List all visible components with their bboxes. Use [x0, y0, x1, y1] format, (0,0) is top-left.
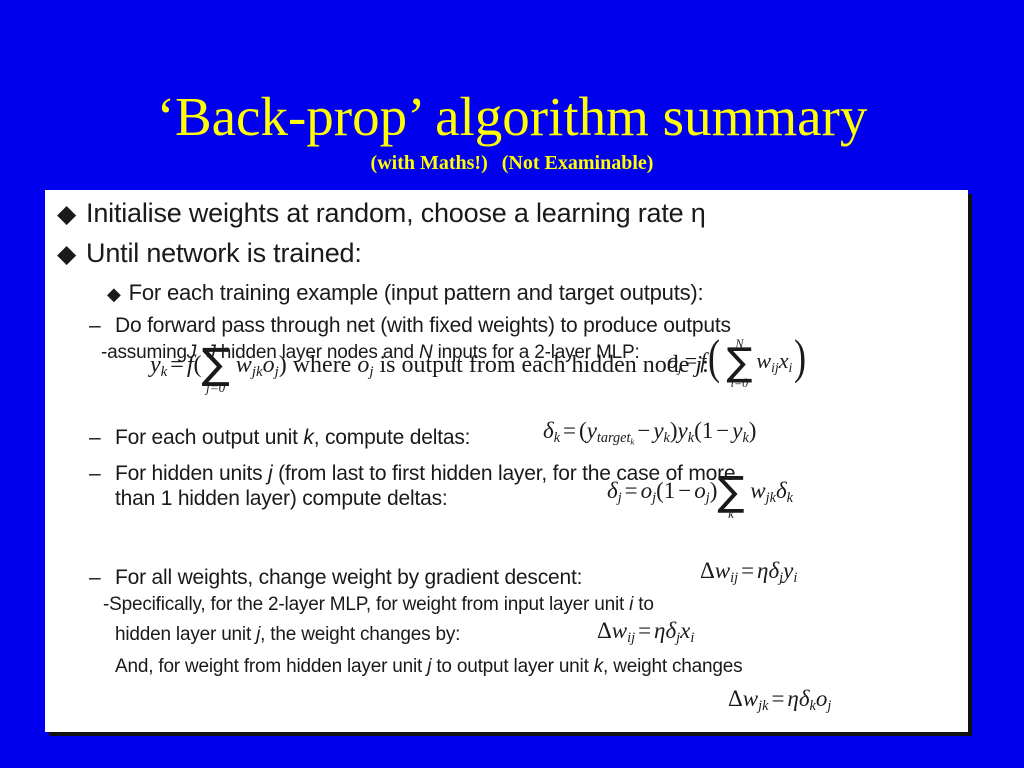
eq-dj-paren-open: ( [656, 478, 664, 503]
bullet-text-a: For hidden units [115, 462, 268, 485]
eq-dk-lhs: δk [543, 418, 560, 443]
eq-yk-oj: oj [357, 352, 373, 378]
page-title: ‘Back-prop’ algorithm summary [0, 88, 1024, 146]
equation-oj: oj=f(N∑i=0wijxi) [667, 348, 808, 376]
bullet-specifically-line2: hidden layer unit j, the weight changes … [115, 624, 460, 646]
bullet-for-each-training-example: ◆For each training example (input patter… [107, 280, 703, 307]
bullet-text-b: , the weight changes by: [260, 624, 460, 645]
equation-yk: yk=f(∑j=0 wjkoj) where oj is output from… [150, 352, 709, 381]
eq-yk-paren-open: ( [193, 352, 201, 378]
eq-dwij2-delta-symbol: Δ [597, 618, 612, 643]
bullet-text-b: to [633, 594, 654, 615]
eq-dwij2-rhs: ηδjxi [654, 618, 694, 643]
bullet-output-unit-deltas: –For each output unit k, compute deltas: [89, 426, 470, 450]
equation-dw-ij-y: Δwij=ηδjyi [700, 558, 797, 587]
eq-dwjk-delta-symbol: Δ [728, 686, 743, 711]
eq-dj-one: 1 [664, 478, 676, 503]
bullet-hidden-units-deltas-line2: than 1 hidden layer) compute deltas: [115, 487, 448, 511]
bullet-specifically-2layer: -Specifically, for the 2-layer MLP, for … [103, 594, 654, 616]
eq-dk-yk: yk [653, 418, 670, 443]
eq-dk-yk3: yk [732, 418, 749, 443]
eq-dwjk-rhs: ηδkoj [787, 686, 831, 711]
eq-dj-equals: = [622, 478, 641, 503]
title-block: ‘Back-prop’ algorithm summary (with Math… [0, 88, 1024, 175]
bullet-text-a: For each output unit [115, 426, 303, 449]
bullet-text: Do forward pass through net (with fixed … [115, 314, 731, 337]
eq-dj-paren-close: ) [710, 478, 718, 503]
equation-dw-jk: Δwjk=ηδkoj [728, 686, 831, 715]
eq-oj-fn: f [700, 348, 706, 373]
bullet-text: Initialise weights at random, choose a l… [86, 198, 706, 228]
eq-dwij2-equals: = [635, 618, 654, 643]
bullet-forward-pass: –Do forward pass through net (with fixed… [89, 314, 731, 338]
bullet-and-for-weight: And, for weight from hidden layer unit j… [115, 656, 742, 678]
eq-yk-lhs: yk [150, 352, 167, 378]
bullet-text: For all weights, change weight by gradie… [115, 566, 582, 589]
eq-dk-paren2-close: ) [749, 418, 757, 443]
eq-dwij2-w: wij [612, 618, 635, 643]
bullet-text: For each training example (input pattern… [129, 280, 704, 305]
bullet-initialise-weights: ◆Initialise weights at random, choose a … [57, 198, 706, 229]
bullet-text-a: hidden layer unit [115, 624, 256, 645]
dash-bullet-icon: – [89, 314, 115, 338]
eq-oj-sum-lower: i=0 [726, 376, 752, 391]
bullet-text-b: to output layer unit [431, 656, 593, 677]
eq-dk-paren2-open: ( [694, 418, 702, 443]
eq-dj-oj2: oj [694, 478, 709, 503]
eq-dk-ytarget: ytargetk [587, 418, 635, 443]
eq-oj-sum: N∑i=0 [726, 350, 752, 376]
dash-bullet-icon: – [89, 462, 115, 486]
eq-dk-paren-open: ( [579, 418, 587, 443]
bullet-text-c: , weight changes [603, 656, 742, 677]
eq-yk-paren-close: ) [279, 352, 287, 378]
eq-yk-equals: = [167, 352, 187, 378]
equation-delta-k: δk=(ytargetk−yk)yk(1−yk) [543, 418, 756, 447]
eq-dk-equals: = [560, 418, 579, 443]
dash-bullet-icon: – [89, 426, 115, 450]
diamond-bullet-icon: ◆ [107, 282, 121, 307]
equation-delta-j: δj=oj(1−oj)∑k wjkδk [607, 478, 793, 507]
bullet-text-a: -Specifically, for the 2-layer MLP, for … [103, 594, 629, 615]
bullet-text-a: And, for weight from hidden layer unit [115, 656, 427, 677]
eq-dwjk-equals: = [768, 686, 787, 711]
bullet-text: Until network is trained: [86, 238, 362, 268]
slide-subtitle: (with Maths!)(Not Examinable) [0, 151, 1024, 175]
eq-dj-lhs: δj [607, 478, 622, 503]
bullet-text-b: , compute deltas: [314, 426, 471, 449]
eq-oj-term: wijxi [756, 348, 792, 373]
content-panel: ◆Initialise weights at random, choose a … [45, 190, 968, 732]
eq-dwij1-w: wij [715, 558, 738, 583]
equation-dw-ij-x: Δwij=ηδjxi [597, 618, 694, 647]
var-k: k [303, 426, 313, 449]
eq-dwij1-equals: = [738, 558, 757, 583]
subtitle-left: (with Maths!) [371, 152, 488, 174]
eq-dwij1-rhs: ηδjyi [757, 558, 797, 583]
eq-yk-where: where [287, 352, 358, 378]
eq-dj-term: wjkδk [745, 478, 793, 503]
eq-dj-sum-lower: k [717, 507, 744, 522]
eq-oj-lhs: oj [667, 348, 682, 373]
bullet-all-weights-gradient-descent: –For all weights, change weight by gradi… [89, 566, 582, 590]
eq-yk-sum: ∑j=0 [201, 353, 229, 380]
eq-dj-oj: oj [641, 478, 656, 503]
eq-dk-minus: − [634, 418, 653, 443]
eq-yk-outputfrom: is output from each hidden node [373, 352, 695, 378]
eq-yk-term: wjkoj [230, 352, 279, 378]
eq-yk-sum-lower: j=0 [201, 380, 229, 396]
eq-dk-minus2: − [713, 418, 732, 443]
eq-oj-equals: = [682, 348, 700, 373]
var-k: k [594, 656, 603, 677]
eq-dwjk-w: wjk [743, 686, 769, 711]
diamond-bullet-icon: ◆ [57, 239, 76, 269]
slide-canvas: ‘Back-prop’ algorithm summary (with Math… [0, 0, 1024, 768]
bullet-text: than 1 hidden layer) compute deltas: [115, 487, 448, 510]
diamond-bullet-icon: ◆ [57, 199, 76, 229]
eq-dj-sum: ∑k [717, 480, 744, 506]
eq-dwij1-delta-symbol: Δ [700, 558, 715, 583]
eq-dk-paren-close: ) [670, 418, 678, 443]
eq-dj-minus: − [675, 478, 694, 503]
dash-bullet-icon: – [89, 566, 115, 590]
eq-dk-one: 1 [702, 418, 714, 443]
bullet-until-trained: ◆Until network is trained: [57, 238, 362, 269]
eq-dk-yk2: yk [678, 418, 695, 443]
subtitle-right: (Not Examinable) [502, 152, 654, 174]
